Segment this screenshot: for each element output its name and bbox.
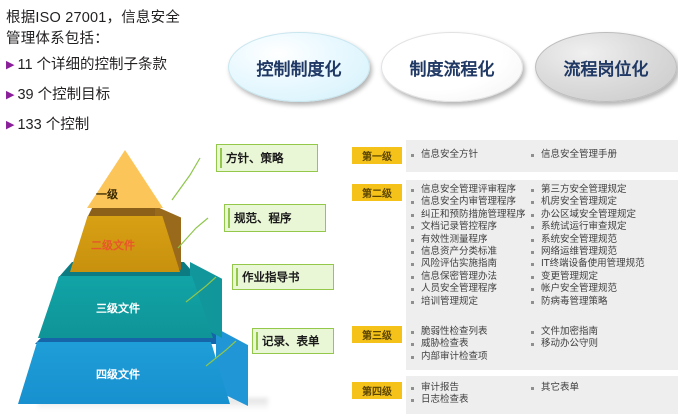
intro-bullet-1-label: 11 个详细的控制子条款 bbox=[17, 50, 167, 80]
list-item: 帐户安全管理规范 bbox=[530, 283, 645, 295]
row-4-left-list: 审计报告 日志检查表 bbox=[410, 382, 469, 407]
row-4-right-list: 其它表单 bbox=[530, 382, 579, 394]
list-item: 网络运维管理规范 bbox=[530, 246, 645, 258]
list-item: IT终端设备使用管理规范 bbox=[530, 258, 645, 270]
row-3-left-column: 脆弱性检查列表 威胁检查表 内部审计检查项 bbox=[410, 326, 488, 363]
list-item: 文件加密指南 bbox=[530, 326, 598, 338]
list-item: 脆弱性检查列表 bbox=[410, 326, 488, 338]
list-item: 人员安全管理程序 bbox=[410, 283, 526, 295]
intro-bullet-3: ▶ 133 个控制 bbox=[6, 110, 221, 140]
list-item: 信息安全管理评审程序 bbox=[410, 184, 526, 196]
level-4-front-face bbox=[18, 342, 230, 404]
ellipse-process-postization: 流程岗位化 bbox=[535, 32, 677, 102]
intro-bullet-2: ▶ 39 个控制目标 bbox=[6, 80, 221, 110]
intro-bullet-2-label: 39 个控制目标 bbox=[17, 80, 110, 110]
level-tag-1: 第一级 bbox=[352, 147, 402, 164]
intro-line-2: 管理体系包括： bbox=[6, 29, 221, 50]
list-item: 防病毒管理策略 bbox=[530, 296, 645, 308]
row-4-right-column: 其它表单 bbox=[530, 382, 579, 394]
list-item: 信息安全方针 bbox=[410, 149, 478, 161]
row-1-right-column: 信息安全管理手册 bbox=[530, 149, 617, 161]
level-1-front-face bbox=[87, 150, 163, 208]
triangle-bullet-icon: ▶ bbox=[6, 120, 14, 131]
intro-text-block: 根据ISO 27001，信息安全 管理体系包括： ▶ 11 个详细的控制子条款 … bbox=[6, 8, 221, 140]
intro-bullet-1: ▶ 11 个详细的控制子条款 bbox=[6, 50, 221, 80]
list-item: 信息安全管理手册 bbox=[530, 149, 617, 161]
list-item: 信息安全内审管理程序 bbox=[410, 196, 526, 208]
list-item: 日志检查表 bbox=[410, 394, 469, 406]
list-item: 有效性测量程序 bbox=[410, 234, 526, 246]
row-2-left-column: 信息安全管理评审程序 信息安全内审管理程序 纠正和预防措施管理程序 文档记录管控… bbox=[410, 184, 526, 308]
intro-line-1: 根据ISO 27001，信息安全 bbox=[6, 8, 221, 29]
callout-work-instruction: 作业指导书 bbox=[232, 264, 334, 290]
row-2-left-list: 信息安全管理评审程序 信息安全内审管理程序 纠正和预防措施管理程序 文档记录管控… bbox=[410, 184, 526, 308]
row-3-right-column: 文件加密指南 移动办公守则 bbox=[530, 326, 598, 351]
callout-record-form: 记录、表单 bbox=[252, 328, 334, 354]
row-4-left-column: 审计报告 日志检查表 bbox=[410, 382, 469, 407]
ellipse-control-standardization: 控制制度化 bbox=[228, 32, 370, 102]
level-tag-2: 第二级 bbox=[352, 184, 402, 201]
ellipse-standard-processization: 制度流程化 bbox=[381, 32, 523, 102]
callout-policy-strategy: 方针、策略 bbox=[216, 144, 318, 172]
list-item: 变更管理规定 bbox=[530, 271, 645, 283]
list-item: 文档记录管控程序 bbox=[410, 221, 526, 233]
level-3-front-face bbox=[38, 276, 213, 338]
slide-canvas: 根据ISO 27001，信息安全 管理体系包括： ▶ 11 个详细的控制子条款 … bbox=[0, 0, 678, 414]
row-2-right-list: 第三方安全管理规定 机房安全管理规定 办公区域安全管理规定 系统试运行审查规定 … bbox=[530, 184, 645, 308]
list-item: 第三方安全管理规定 bbox=[530, 184, 645, 196]
intro-bullet-3-label: 133 个控制 bbox=[17, 110, 89, 140]
list-item: 风险评估实施指南 bbox=[410, 258, 526, 270]
row-2-right-column: 第三方安全管理规定 机房安全管理规定 办公区域安全管理规定 系统试运行审查规定 … bbox=[530, 184, 645, 308]
list-item: 培训管理规定 bbox=[410, 296, 526, 308]
level-tag-3: 第三级 bbox=[352, 326, 402, 343]
row-1-right-list: 信息安全管理手册 bbox=[530, 149, 617, 161]
list-item: 办公区域安全管理规定 bbox=[530, 209, 645, 221]
callout-standard-procedure: 规范、程序 bbox=[224, 204, 326, 232]
list-item: 系统安全管理规范 bbox=[530, 234, 645, 246]
list-item: 威胁检查表 bbox=[410, 338, 488, 350]
document-list-table: 第一级 信息安全方针 信息安全管理手册 第二级 信息安全管理评审程序 信息安全内… bbox=[348, 140, 678, 410]
list-item: 机房安全管理规定 bbox=[530, 196, 645, 208]
list-item: 信息资产分类标准 bbox=[410, 246, 526, 258]
list-item: 信息保密管理办法 bbox=[410, 271, 526, 283]
list-item: 移动办公守则 bbox=[530, 338, 598, 350]
row-1-left-column: 信息安全方针 bbox=[410, 149, 478, 161]
list-item: 其它表单 bbox=[530, 382, 579, 394]
list-item: 内部审计检查项 bbox=[410, 351, 488, 363]
level-tag-4: 第四级 bbox=[352, 382, 402, 399]
level-2-front-face bbox=[70, 216, 180, 272]
list-item: 审计报告 bbox=[410, 382, 469, 394]
list-item: 纠正和预防措施管理程序 bbox=[410, 209, 526, 221]
row-3-left-list: 脆弱性检查列表 威胁检查表 内部审计检查项 bbox=[410, 326, 488, 363]
list-item: 系统试运行审查规定 bbox=[530, 221, 645, 233]
row-3-right-list: 文件加密指南 移动办公守则 bbox=[530, 326, 598, 351]
triangle-bullet-icon: ▶ bbox=[6, 90, 14, 101]
row-1-left-list: 信息安全方针 bbox=[410, 149, 478, 161]
triangle-bullet-icon: ▶ bbox=[6, 60, 14, 71]
